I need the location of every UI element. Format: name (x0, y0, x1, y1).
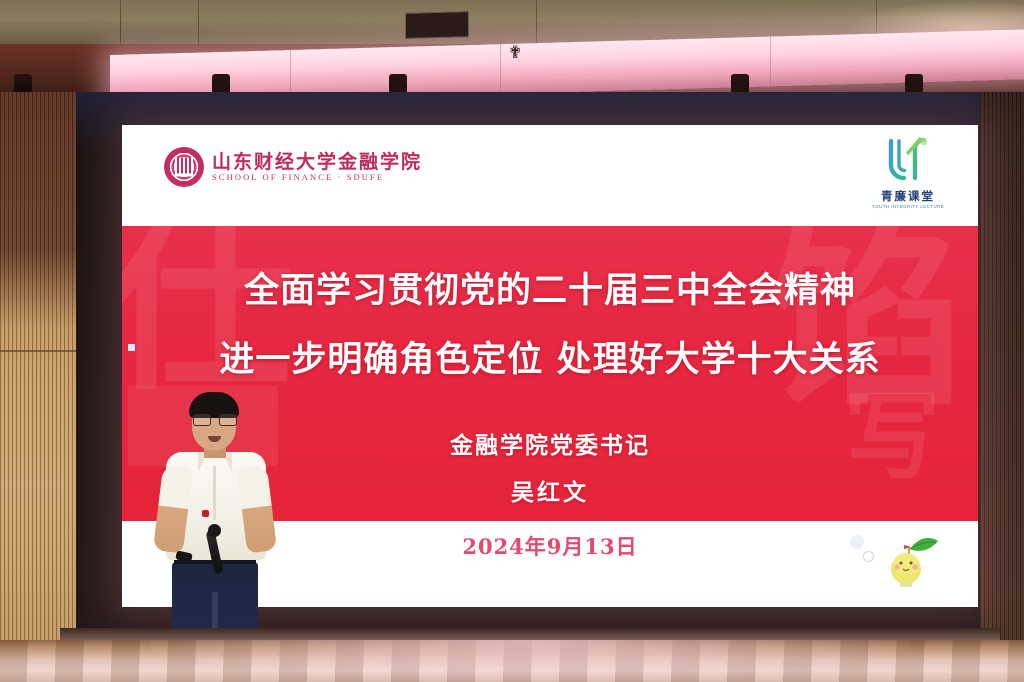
slide-title-line-1: 全面学习贯彻党的二十届三中全会精神 (122, 262, 978, 313)
sprinkler-icon: ✟ (508, 44, 522, 61)
mascot-bubble-small-icon (863, 551, 874, 562)
presenter-lapel-badge (202, 510, 209, 517)
slide-title-block: 全面学习贯彻党的二十届三中全会精神 进一步明确角色定位 处理好大学十大关系 (122, 262, 978, 382)
mascot-bubble-large-icon (850, 535, 864, 549)
qinglian-classroom-emblem-icon (882, 135, 934, 181)
sdufe-crest-icon (164, 147, 204, 187)
lecture-hall-scene: ✟ 山东财经大学金融学院 SCHOOL OF FINANCE · SDUFE (0, 0, 1024, 682)
slide-title-line-2: 进一步明确角色定位 处理好大学十大关系 (122, 331, 978, 382)
slide-header: 山东财经大学金融学院 SCHOOL OF FINANCE · SDUFE (122, 125, 978, 226)
ceiling-vent (405, 11, 469, 39)
presenter-glasses-icon (193, 414, 235, 424)
lotus-mascot-icon (876, 527, 942, 589)
slatted-wood-wall-left (0, 92, 76, 657)
sdufe-logo-english: SCHOOL OF FINANCE · SDUFE (212, 173, 422, 182)
slatted-wood-wall-right (980, 92, 1024, 657)
qinglian-logo-chinese: 青廉课堂 (866, 188, 950, 204)
sdufe-logo-chinese: 山东财经大学金融学院 (212, 153, 422, 173)
sdufe-logo: 山东财经大学金融学院 SCHOOL OF FINANCE · SDUFE (164, 147, 422, 187)
qinglian-classroom-logo: 青廉课堂 YOUTH INTEGRITY LECTURE (866, 135, 950, 209)
qinglian-logo-english: YOUTH INTEGRITY LECTURE (868, 204, 948, 209)
floor-screen-glow (150, 640, 910, 682)
